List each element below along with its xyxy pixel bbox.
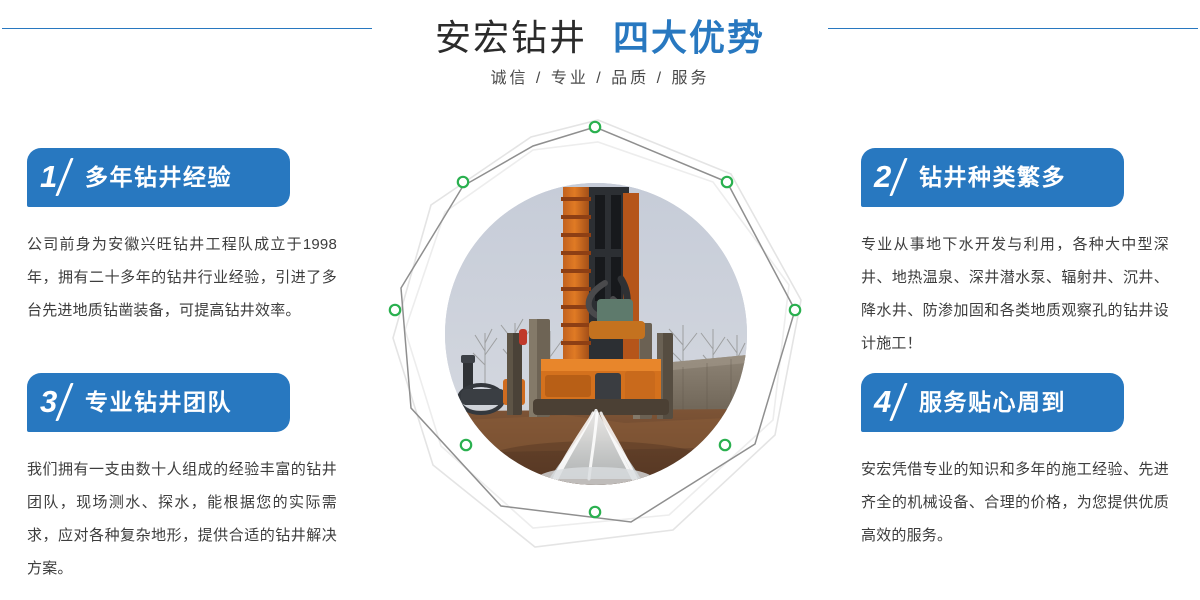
number-slash-icon bbox=[889, 383, 907, 421]
feature-card-1: 1 多年钻井经验 公司前身为安徽兴旺钻井工程队成立于1998年，拥有二十多年的钻… bbox=[27, 148, 337, 327]
page-title: 安宏钻井四大优势 bbox=[0, 9, 1200, 61]
card-2-number: 2 bbox=[874, 154, 891, 200]
center-graphic bbox=[383, 110, 813, 560]
card-3-body: 我们拥有一支由数十人组成的经验丰富的钻井团队，现场测水、探水，能根据您的实际需求… bbox=[27, 453, 337, 585]
page-subtitle: 诚信 / 专业 / 品质 / 服务 bbox=[0, 64, 1200, 88]
decagon-node-bottom bbox=[590, 507, 600, 517]
number-badge-2-icon: 2 bbox=[861, 148, 919, 207]
card-4-number: 4 bbox=[874, 379, 891, 425]
number-slash-icon bbox=[55, 383, 73, 421]
title-company: 安宏钻井 bbox=[435, 17, 587, 58]
feature-card-3: 3 专业钻井团队 我们拥有一支由数十人组成的经验丰富的钻井团队，现场测水、探水，… bbox=[27, 373, 337, 585]
card-4-title: 服务贴心周到 bbox=[919, 391, 1066, 414]
page-header: 安宏钻井四大优势 诚信 / 专业 / 品质 / 服务 bbox=[0, 0, 1200, 110]
card-4-body: 安宏凭借专业的知识和多年的施工经验、先进齐全的机械设备、合理的价格，为您提供优质… bbox=[861, 453, 1169, 552]
decagon-node-left bbox=[390, 305, 400, 315]
promo-page: 安宏钻井四大优势 诚信 / 专业 / 品质 / 服务 1 多年钻井经验 公司前身… bbox=[0, 0, 1200, 600]
card-2-body: 专业从事地下水开发与利用，各种大中型深井、地热温泉、深井潜水泵、辐射井、沉井、降… bbox=[861, 228, 1169, 360]
number-slash-icon bbox=[55, 158, 73, 196]
card-1-title: 多年钻井经验 bbox=[85, 166, 232, 189]
card-3-title: 专业钻井团队 bbox=[85, 391, 232, 414]
card-1-body: 公司前身为安徽兴旺钻井工程队成立于1998年，拥有二十多年的钻井行业经验，引进了… bbox=[27, 228, 337, 327]
title-highlight: 四大优势 bbox=[613, 17, 765, 58]
card-1-number: 1 bbox=[40, 154, 57, 200]
number-badge-3-icon: 3 bbox=[27, 373, 85, 432]
number-badge-1-icon: 1 bbox=[27, 148, 85, 207]
drilling-rig-photo bbox=[445, 183, 747, 485]
card-1-banner: 1 多年钻井经验 bbox=[27, 148, 290, 207]
card-4-banner: 4 服务贴心周到 bbox=[861, 373, 1124, 432]
number-badge-4-icon: 4 bbox=[861, 373, 919, 432]
decagon-node-top bbox=[590, 122, 600, 132]
card-2-banner: 2 钻井种类繁多 bbox=[861, 148, 1124, 207]
card-3-banner: 3 专业钻井团队 bbox=[27, 373, 290, 432]
feature-card-2: 2 钻井种类繁多 专业从事地下水开发与利用，各种大中型深井、地热温泉、深井潜水泵… bbox=[861, 148, 1169, 360]
decagon-node-right bbox=[790, 305, 800, 315]
card-3-number: 3 bbox=[40, 379, 57, 425]
card-2-title: 钻井种类繁多 bbox=[919, 166, 1066, 189]
drilling-rig-illustration bbox=[445, 183, 747, 485]
feature-card-4: 4 服务贴心周到 安宏凭借专业的知识和多年的施工经验、先进齐全的机械设备、合理的… bbox=[861, 373, 1169, 552]
number-slash-icon bbox=[889, 158, 907, 196]
